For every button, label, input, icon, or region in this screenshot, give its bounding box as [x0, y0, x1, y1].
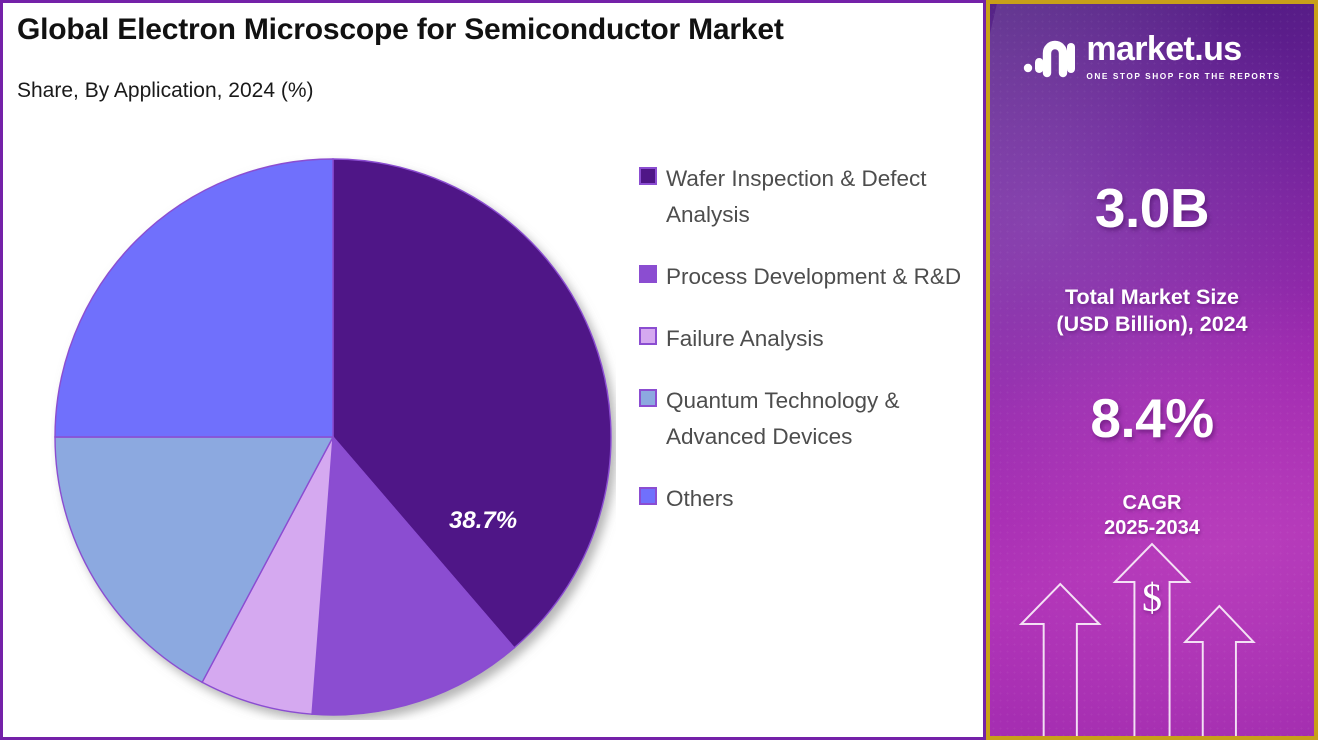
pie-chart: 38.7%	[51, 155, 616, 720]
legend-item[interactable]: Wafer Inspection & Defect Analysis	[639, 161, 983, 233]
market-size-caption-line-1: Total Market Size	[990, 284, 1314, 311]
legend-swatch-icon	[639, 389, 657, 407]
brand-panel: market.us ONE STOP SHOP FOR THE REPORTS …	[986, 0, 1318, 740]
legend-swatch-icon	[639, 167, 657, 185]
brand-tagline: ONE STOP SHOP FOR THE REPORTS	[1086, 71, 1280, 81]
cagr-value: 8.4%	[990, 386, 1314, 450]
pie-slice-label-wafer-inspection: 38.7%	[449, 507, 517, 535]
legend-item-label: Others	[666, 481, 734, 517]
legend-item-label: Quantum Technology & Advanced Devices	[666, 383, 983, 455]
cagr-caption: CAGR 2025-2034	[990, 491, 1314, 541]
market-size-value: 3.0B	[990, 176, 1314, 240]
page-subtitle: Share, By Application, 2024 (%)	[17, 79, 314, 103]
brand-name: market.us	[1086, 32, 1241, 66]
cagr-caption-line-1: CAGR	[990, 491, 1314, 516]
pie-slice	[55, 159, 333, 437]
market-us-logo-icon	[1023, 35, 1075, 79]
growth-arrows-graphic	[990, 536, 1314, 736]
legend-item[interactable]: Quantum Technology & Advanced Devices	[639, 383, 983, 455]
market-size-caption: Total Market Size (USD Billion), 2024	[990, 284, 1314, 338]
page-title: Global Electron Microscope for Semicondu…	[17, 13, 784, 47]
growth-arrows-icon	[990, 536, 1314, 736]
legend-swatch-icon	[639, 327, 657, 345]
pie-chart-svg	[51, 155, 616, 720]
legend-swatch-icon	[639, 265, 657, 283]
brand-logo[interactable]: market.us ONE STOP SHOP FOR THE REPORTS	[990, 32, 1314, 81]
chart-legend: Wafer Inspection & Defect AnalysisProces…	[639, 161, 983, 543]
legend-swatch-icon	[639, 487, 657, 505]
brand-logo-text: market.us ONE STOP SHOP FOR THE REPORTS	[1086, 32, 1280, 81]
legend-item[interactable]: Others	[639, 481, 983, 517]
chart-panel: Global Electron Microscope for Semicondu…	[0, 0, 986, 740]
market-size-caption-line-2: (USD Billion), 2024	[990, 311, 1314, 338]
legend-item[interactable]: Process Development & R&D	[639, 259, 983, 295]
legend-item-label: Process Development & R&D	[666, 259, 961, 295]
legend-item-label: Wafer Inspection & Defect Analysis	[666, 161, 983, 233]
pie-slice-group	[55, 159, 611, 715]
infographic-root: Global Electron Microscope for Semicondu…	[0, 0, 1318, 740]
legend-item[interactable]: Failure Analysis	[639, 321, 983, 357]
legend-item-label: Failure Analysis	[666, 321, 824, 357]
